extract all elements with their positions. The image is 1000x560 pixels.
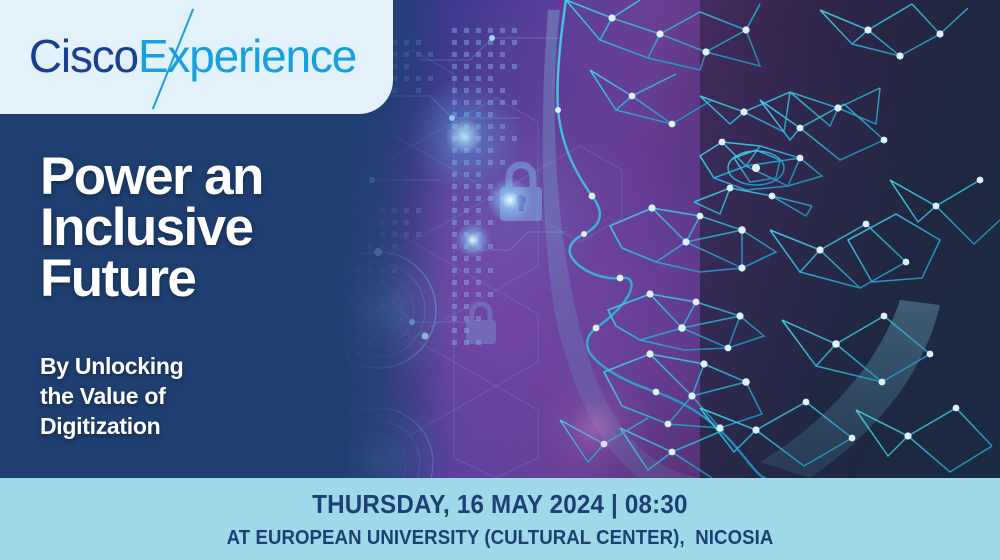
subtitle-line-2: the Value of <box>40 382 340 412</box>
logo-plate: Cisco Experience <box>0 0 393 114</box>
headline-line-2: Inclusive <box>40 203 370 254</box>
headline-line-1: Power an <box>40 152 370 203</box>
subtitle-line-1: By Unlocking <box>40 352 340 382</box>
lock-icon <box>500 165 542 221</box>
event-details-bar: THURSDAY, 16 MAY 2024 | 08:30 AT EUROPEA… <box>0 478 1000 560</box>
page-title: Power an Inclusive Future <box>40 152 370 305</box>
subtitle-line-3: Digitization <box>40 412 340 442</box>
event-date-time: THURSDAY, 16 MAY 2024 | 08:30 <box>312 489 688 520</box>
lock-icon-secondary <box>466 304 496 344</box>
mesh-nodes <box>555 14 983 455</box>
event-banner: Cisco Experience Power an Inclusive Futu… <box>0 0 1000 560</box>
logo-product-text: Experience <box>138 29 356 83</box>
headline-line-3: Future <box>40 254 370 305</box>
polygon-face-mesh <box>557 0 1000 478</box>
subtitle: By Unlocking the Value of Digitization <box>40 352 340 442</box>
logo-brand-text: Cisco <box>29 29 138 83</box>
cisco-experience-logo: Cisco Experience <box>29 29 356 83</box>
event-venue: AT EUROPEAN UNIVERSITY (CULTURAL CENTER)… <box>227 527 774 550</box>
